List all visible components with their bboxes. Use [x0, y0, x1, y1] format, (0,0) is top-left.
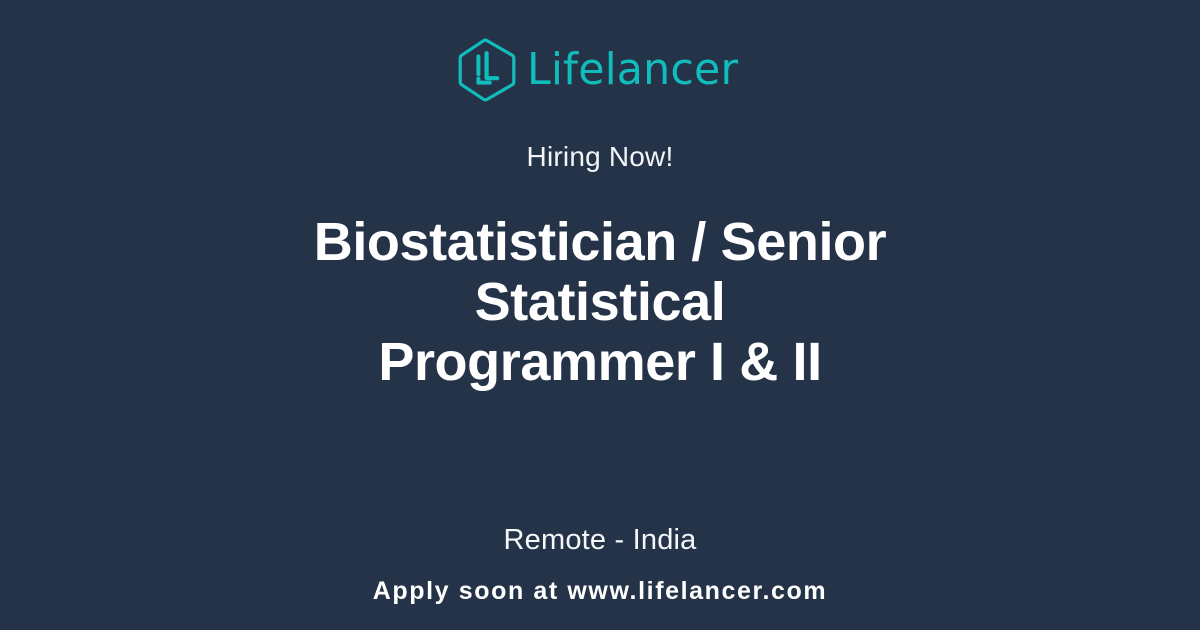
job-location: Remote - India [504, 522, 697, 558]
brand-logo[interactable]: Lifelancer [455, 36, 745, 104]
apply-cta-text[interactable]: Apply soon at www.lifelancer.com [0, 575, 1200, 607]
job-title-line-1: Biostatistician / Senior Statistical [314, 212, 887, 332]
brand-wordmark: Lifelancer [527, 48, 738, 92]
lifelancer-hexagon-l-icon [455, 37, 519, 103]
job-promo-card: Lifelancer Hiring Now! Biostatistician /… [0, 0, 1200, 630]
hiring-now-label: Hiring Now! [527, 140, 674, 174]
page-title: Biostatistician / Senior Statistical Pro… [170, 212, 1030, 392]
job-title-line-2: Programmer I & II [378, 332, 821, 392]
